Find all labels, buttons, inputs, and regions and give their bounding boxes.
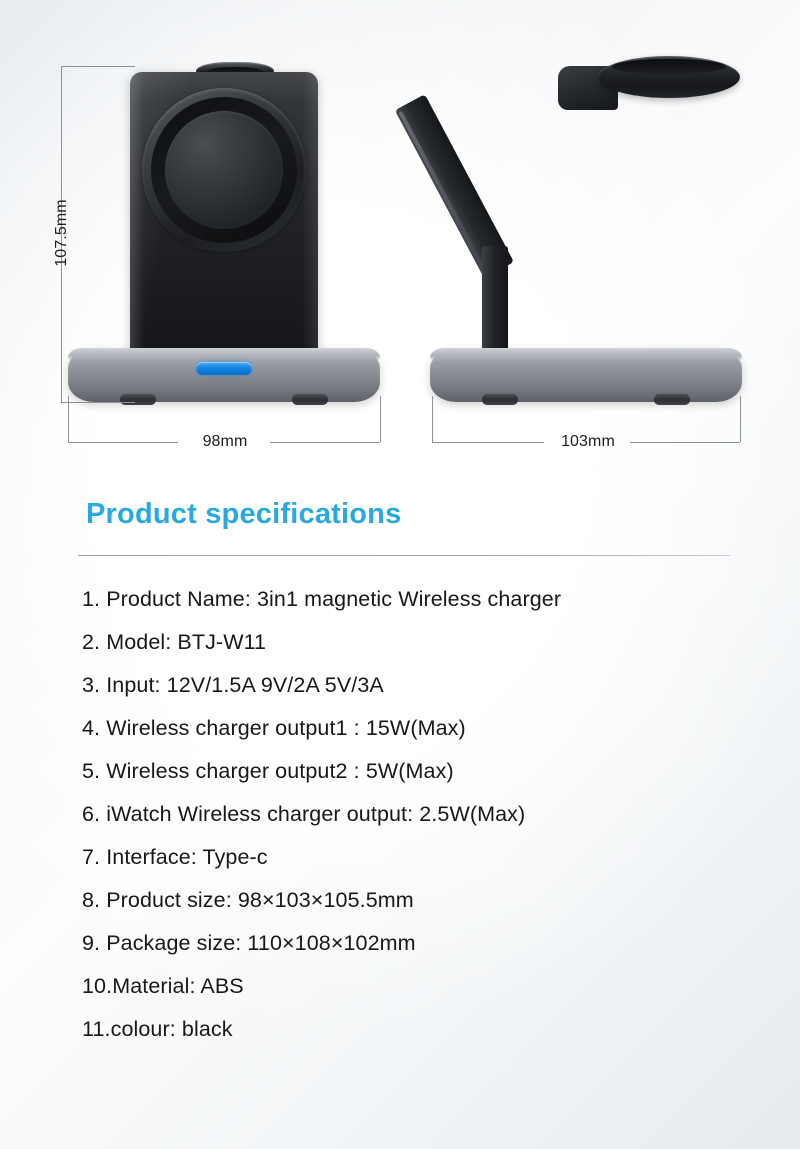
rubber-foot-right — [292, 394, 328, 405]
spec-item-product-name: 1. Product Name: 3in1 magnetic Wireless … — [82, 578, 762, 621]
width103-extension-right — [740, 396, 741, 442]
rubber-foot-left — [482, 394, 518, 405]
spec-item-model: 2. Model: BTJ-W11 — [82, 621, 762, 664]
height-dimension-label: 107.5mm — [53, 198, 71, 268]
width98-extension-left — [68, 396, 69, 442]
side-view-illustration — [430, 50, 742, 402]
heading-divider — [78, 555, 730, 556]
rubber-foot-left — [120, 394, 156, 405]
width103-dimension-line-right — [630, 442, 740, 443]
magsafe-pad-ring — [151, 97, 297, 243]
charger-vertical-post — [482, 246, 508, 354]
width103-dimension-line-left — [432, 442, 544, 443]
magsafe-pad-center — [165, 111, 283, 229]
front-view-illustration — [68, 62, 380, 402]
watch-charging-pad-side — [598, 56, 740, 98]
spec-item-interface: 7. Interface: Type-c — [82, 836, 762, 879]
product-illustration: 107.5mm 98mm 103mm — [0, 0, 800, 470]
width98-dimension-line-right — [270, 442, 380, 443]
width98-dimension-line-left — [68, 442, 178, 443]
height-dimension-tick-top — [61, 66, 135, 67]
led-indicator — [196, 362, 252, 375]
specifications-list: 1. Product Name: 3in1 magnetic Wireless … — [82, 578, 762, 1051]
spec-item-output2: 5. Wireless charger output2 : 5W(Max) — [82, 750, 762, 793]
spec-item-package-size: 9. Package size: 110×108×102mm — [82, 922, 762, 965]
spec-item-iwatch-output: 6. iWatch Wireless charger output: 2.5W(… — [82, 793, 762, 836]
charger-upright-body — [130, 72, 318, 368]
spec-item-input: 3. Input: 12V/1.5A 9V/2A 5V/3A — [82, 664, 762, 707]
spec-item-product-size: 8. Product size: 98×103×105.5mm — [82, 879, 762, 922]
charger-base-side — [430, 348, 742, 402]
charger-base-front — [68, 348, 380, 402]
spec-item-output1: 4. Wireless charger output1 : 15W(Max) — [82, 707, 762, 750]
width98-dimension-label: 98mm — [184, 433, 266, 451]
width103-dimension-label: 103mm — [544, 433, 632, 451]
spec-item-colour: 11.colour: black — [82, 1008, 762, 1051]
width103-extension-left — [432, 396, 433, 442]
specifications-heading: Product specifications — [86, 498, 401, 531]
magsafe-charging-pad — [142, 88, 306, 252]
width98-extension-right — [380, 396, 381, 442]
height-dimension-tick-bottom — [61, 402, 135, 403]
rubber-foot-right — [654, 394, 690, 405]
spec-item-material: 10.Material: ABS — [82, 965, 762, 1008]
